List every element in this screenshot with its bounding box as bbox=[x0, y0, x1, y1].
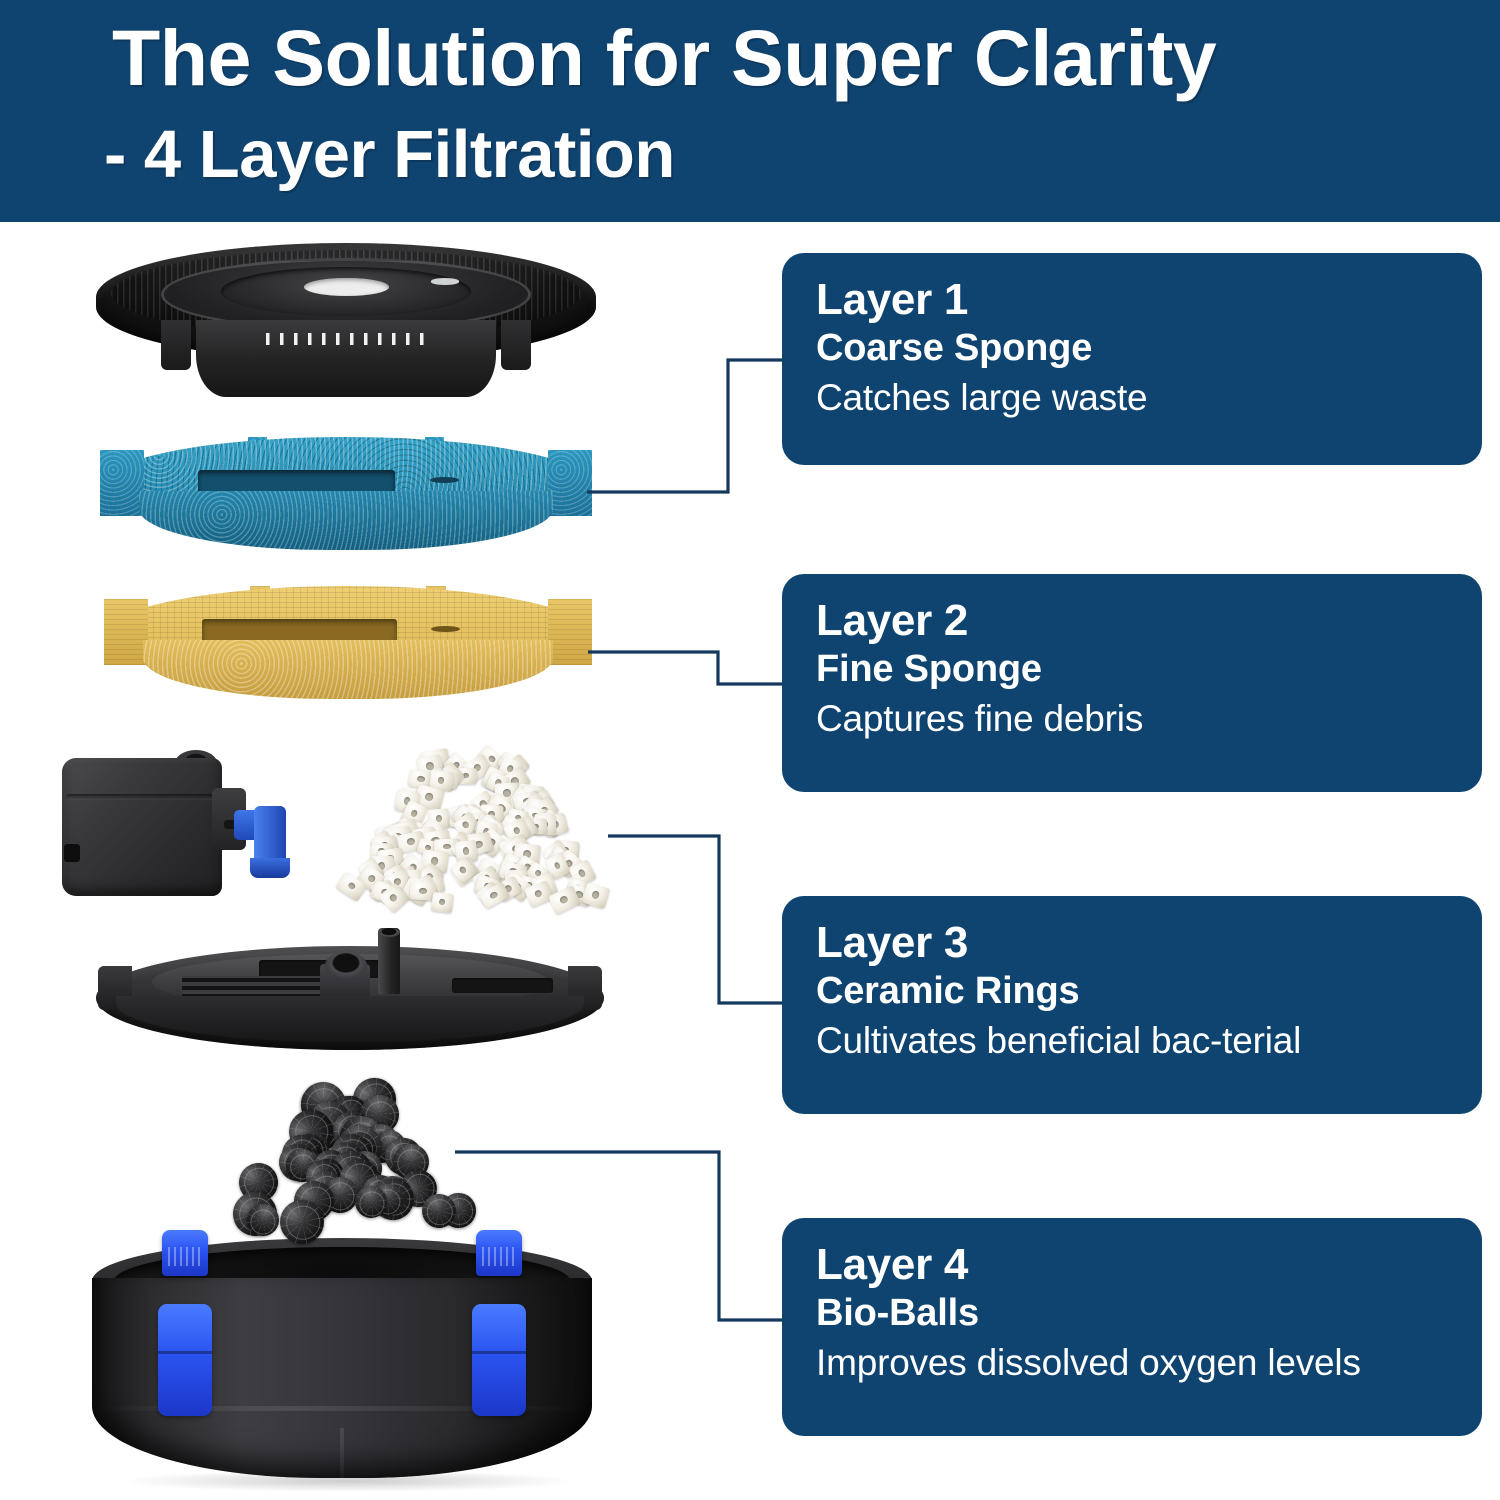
plate-port-opening bbox=[325, 952, 367, 978]
callout-1-description: Catches large waste bbox=[816, 374, 1452, 421]
canister-clip-back-left bbox=[162, 1230, 208, 1276]
lid-tab-right bbox=[501, 320, 531, 370]
sponge-lug-right bbox=[548, 450, 592, 517]
infographic-root: The Solution for Super Clarity - 4 Layer… bbox=[0, 0, 1500, 1500]
callout-1-name: Coarse Sponge bbox=[816, 324, 1452, 373]
lid-center-hole bbox=[304, 278, 389, 296]
filter-canister bbox=[92, 1238, 592, 1500]
sponge-side-face bbox=[139, 491, 552, 550]
connector-layer-3 bbox=[608, 836, 782, 1003]
pump-elbow-cap bbox=[250, 858, 290, 878]
canister-clip-back-right bbox=[476, 1230, 522, 1276]
callout-1-layer-label: Layer 1 bbox=[816, 275, 1452, 324]
bio-ball bbox=[419, 1190, 460, 1231]
coarse-sponge-blue bbox=[100, 437, 592, 565]
callout-4-name: Bio-Balls bbox=[816, 1289, 1452, 1338]
callout-2-description: Captures fine debris bbox=[816, 695, 1452, 742]
callout-2-name: Fine Sponge bbox=[816, 645, 1452, 694]
bio-balls-pile bbox=[228, 1080, 472, 1240]
plate-riser-tube bbox=[378, 928, 400, 994]
pump-body bbox=[62, 758, 222, 896]
callout-4-description: Improves dissolved oxygen levels bbox=[816, 1339, 1452, 1386]
plate-comb-bars bbox=[182, 976, 334, 998]
callout-layer-2[interactable]: Layer 2 Fine Sponge Captures fine debris bbox=[782, 574, 1482, 792]
page-subtitle: - 4 Layer Filtration bbox=[104, 116, 675, 193]
pump-cable-slot bbox=[64, 844, 80, 862]
callout-3-name: Ceramic Rings bbox=[816, 967, 1452, 1016]
callout-layer-3[interactable]: Layer 3 Ceramic Rings Cultivates benefic… bbox=[782, 896, 1482, 1114]
callout-2-layer-label: Layer 2 bbox=[816, 596, 1452, 645]
connector-layer-2 bbox=[588, 652, 782, 684]
fine-sponge-yellow bbox=[104, 586, 592, 714]
ceramic-rings-pile bbox=[340, 745, 612, 920]
ceramic-ring bbox=[431, 892, 454, 913]
canister-shadow bbox=[118, 1470, 578, 1492]
canister-clip-front-left bbox=[158, 1304, 212, 1416]
sponge-pin-hole bbox=[430, 477, 460, 483]
plate-vent-rect-right bbox=[452, 978, 554, 993]
header-banner: The Solution for Super Clarity - 4 Layer… bbox=[0, 0, 1500, 222]
lid-skirt bbox=[196, 320, 496, 397]
lid-indicator-dot bbox=[431, 278, 459, 284]
page-title: The Solution for Super Clarity bbox=[112, 18, 1452, 99]
lid-vent-slots bbox=[266, 333, 426, 346]
canister-clip-front-right bbox=[472, 1304, 526, 1416]
sponge-lug-left bbox=[104, 599, 148, 666]
callout-3-description: Cultivates beneficial bac-terial bbox=[816, 1017, 1452, 1064]
sponge-pin-hole bbox=[431, 626, 460, 632]
callout-layer-1[interactable]: Layer 1 Coarse Sponge Catches large wast… bbox=[782, 253, 1482, 465]
sponge-lug-right bbox=[548, 599, 592, 666]
sponge-side-face bbox=[143, 640, 553, 699]
callout-3-layer-label: Layer 3 bbox=[816, 918, 1452, 967]
water-pump bbox=[62, 748, 292, 903]
base-plate bbox=[96, 930, 604, 1065]
connector-layer-1 bbox=[587, 360, 782, 492]
sponge-lug-left bbox=[100, 450, 144, 517]
callout-layer-4[interactable]: Layer 4 Bio-Balls Improves dissolved oxy… bbox=[782, 1218, 1482, 1436]
lid-tab-left bbox=[161, 320, 191, 370]
callout-4-layer-label: Layer 4 bbox=[816, 1240, 1452, 1289]
pump-seam bbox=[66, 794, 218, 800]
filter-lid bbox=[96, 243, 596, 383]
